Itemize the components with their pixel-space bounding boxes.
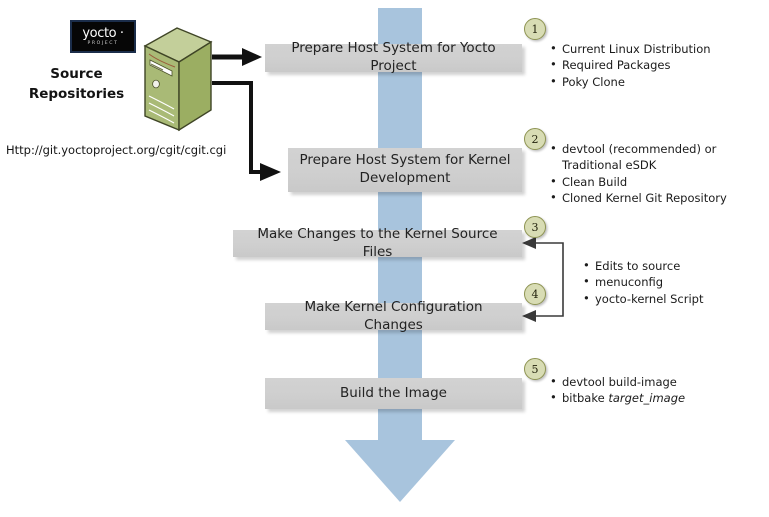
yocto-logo-wordmark: yocto · xyxy=(82,27,123,40)
step-badge-3: 3 xyxy=(524,216,546,238)
source-label-line1: Source xyxy=(14,65,139,85)
source-repositories-url: Http://git.yoctoproject.org/cgit/cgit.cg… xyxy=(6,143,226,157)
workflow-diagram: yocto · PROJECT Source Repositories Http… xyxy=(0,0,769,517)
list-item: Edits to source xyxy=(583,258,704,274)
flow-arrow-head xyxy=(345,440,455,502)
steps-3-4-bullet-list: Edits to source menuconfig yocto-kernel … xyxy=(583,258,704,307)
yocto-project-logo: yocto · PROJECT xyxy=(70,20,136,53)
list-item: yocto-kernel Script xyxy=(583,291,704,307)
list-item: Clean Build xyxy=(550,174,727,190)
list-item-command: bitbake xyxy=(562,391,608,405)
source-repositories-label: Source Repositories xyxy=(14,65,139,104)
yocto-logo-subtext: PROJECT xyxy=(87,42,118,47)
list-item-continuation: Traditional eSDK xyxy=(550,157,727,173)
process-box-step-4[interactable]: Make Kernel Configuration Changes xyxy=(265,303,522,330)
list-item: Required Packages xyxy=(550,57,711,73)
process-box-step-2-label-line2: Development xyxy=(360,170,451,188)
process-box-step-4-label: Make Kernel Configuration Changes xyxy=(273,299,514,335)
step-badge-3-number: 3 xyxy=(532,221,539,234)
process-box-step-2[interactable]: Prepare Host System for Kernel Developme… xyxy=(288,148,522,192)
list-item: Cloned Kernel Git Repository xyxy=(550,190,727,206)
list-item: Poky Clone xyxy=(550,74,711,90)
step-5-bullet-list: devtool build-image bitbake target_image xyxy=(550,374,685,407)
step-1-bullet-list: Current Linux Distribution Required Pack… xyxy=(550,41,711,90)
process-box-step-1-label: Prepare Host System for Yocto Project xyxy=(273,40,514,76)
list-item: Current Linux Distribution xyxy=(550,41,711,57)
process-box-step-3-label: Make Changes to the Kernel Source Files xyxy=(241,226,514,262)
step-badge-2-number: 2 xyxy=(532,133,539,146)
step-badge-5: 5 xyxy=(524,358,546,380)
process-box-step-5[interactable]: Build the Image xyxy=(265,378,522,409)
server-tower-icon xyxy=(131,24,213,134)
step-badge-2: 2 xyxy=(524,128,546,150)
list-item: bitbake target_image xyxy=(550,390,685,406)
step-badge-1-number: 1 xyxy=(532,23,539,36)
process-box-step-1[interactable]: Prepare Host System for Yocto Project xyxy=(265,44,522,72)
list-item-target-param: target_image xyxy=(608,391,685,405)
process-box-step-2-label-line1: Prepare Host System for Kernel xyxy=(299,152,510,170)
step-badge-5-number: 5 xyxy=(532,363,539,376)
source-label-line2: Repositories xyxy=(14,85,139,105)
step-badge-4-number: 4 xyxy=(532,288,539,301)
step-badge-1: 1 xyxy=(524,18,546,40)
list-item: devtool (recommended) or xyxy=(550,141,727,157)
step-badge-4: 4 xyxy=(524,283,546,305)
list-item: menuconfig xyxy=(583,274,704,290)
step-2-bullet-list: devtool (recommended) or Traditional eSD… xyxy=(550,141,727,206)
process-box-step-5-label: Build the Image xyxy=(340,385,447,403)
list-item: devtool build-image xyxy=(550,374,685,390)
process-box-step-3[interactable]: Make Changes to the Kernel Source Files xyxy=(233,230,522,257)
